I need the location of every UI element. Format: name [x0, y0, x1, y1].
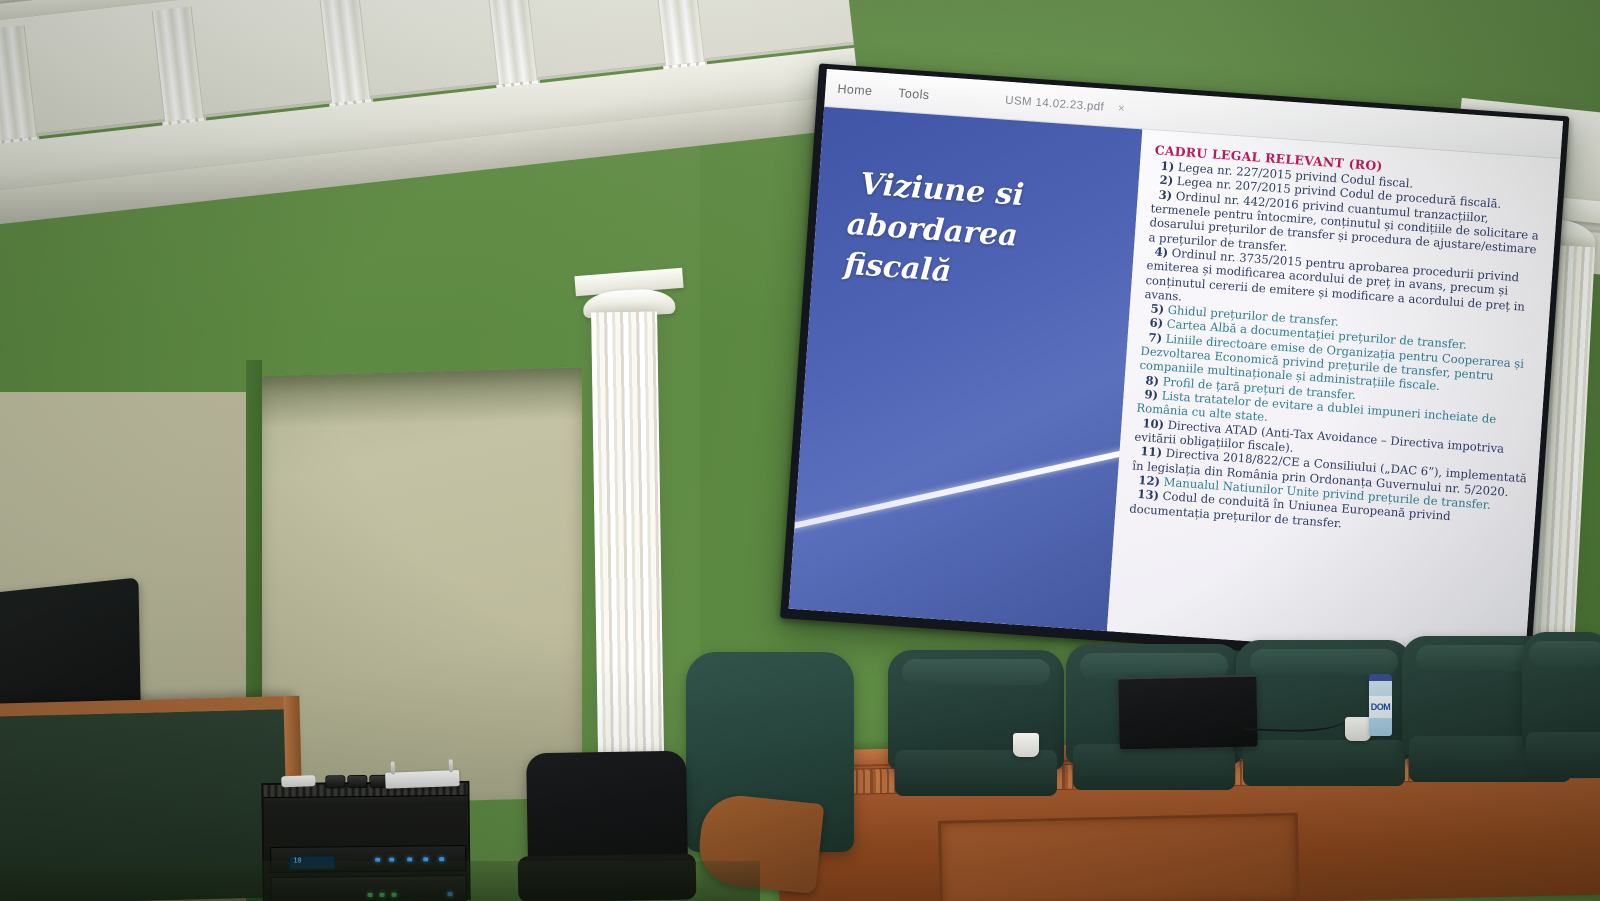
document-tab[interactable]: USM 14.02.23.pdf ×: [1005, 94, 1125, 114]
slide-content-panel: CADRU LEGAL RELEVANT (RO) 1) Legea nr. 2…: [1107, 129, 1561, 660]
document-tab-title: USM 14.02.23.pdf: [1005, 94, 1105, 113]
slide-title-line2: abordarea fiscală: [843, 204, 1117, 303]
desk-inset-panel: [938, 813, 1300, 901]
wireless-access-point: [281, 775, 315, 787]
legal-reference-number: 13): [1137, 487, 1160, 502]
legal-reference-number: 12): [1138, 473, 1161, 488]
legal-references-list: 1) Legea nr. 227/2015 privind Codul fisc…: [1129, 158, 1548, 543]
microphone-receiver: [347, 775, 367, 788]
projection-screen: Home Tools USM 14.02.23.pdf × Viziune si…: [780, 63, 1569, 671]
legal-reference-number: 11): [1140, 444, 1163, 459]
router-antenna: [449, 759, 453, 772]
router-antenna: [391, 761, 395, 774]
leather-chair: [1522, 632, 1600, 752]
pdf-slide: Viziune si abordarea fiscală CADRU LEGAL…: [789, 107, 1561, 661]
triglyph: [653, 0, 705, 66]
legal-reference-number: 10): [1142, 416, 1165, 431]
triglyph: [0, 25, 37, 141]
laptop-on-desk[interactable]: [1118, 675, 1257, 750]
slide-title: Viziune si abordarea fiscală: [853, 165, 1119, 304]
desk-front-panel: [777, 780, 1600, 901]
triglyph: [152, 6, 204, 122]
home-menu[interactable]: Home: [837, 81, 873, 97]
triglyph: [486, 0, 538, 85]
alcove-shadow: [252, 367, 582, 428]
floor-shadow: [0, 861, 760, 901]
water-bottle: DOM: [1369, 674, 1392, 736]
tools-menu[interactable]: Tools: [898, 86, 930, 102]
conference-hall-photo: Home Tools USM 14.02.23.pdf × Viziune si…: [0, 0, 1600, 901]
visitor-chair: [526, 751, 688, 864]
close-icon[interactable]: ×: [1118, 102, 1126, 114]
triglyph: [319, 0, 371, 103]
screen-display-area: Home Tools USM 14.02.23.pdf × Viziune si…: [789, 69, 1563, 661]
wall-alcove: [252, 367, 582, 806]
slide-title-panel: Viziune si abordarea fiscală: [789, 107, 1143, 631]
paper-cup: [1345, 717, 1371, 741]
wifi-router: [385, 770, 460, 789]
microphone-receiver: [325, 775, 345, 788]
bottle-label: DOM: [1369, 696, 1392, 718]
paper-cup: [1013, 733, 1039, 757]
fluted-column-center: [591, 312, 665, 813]
